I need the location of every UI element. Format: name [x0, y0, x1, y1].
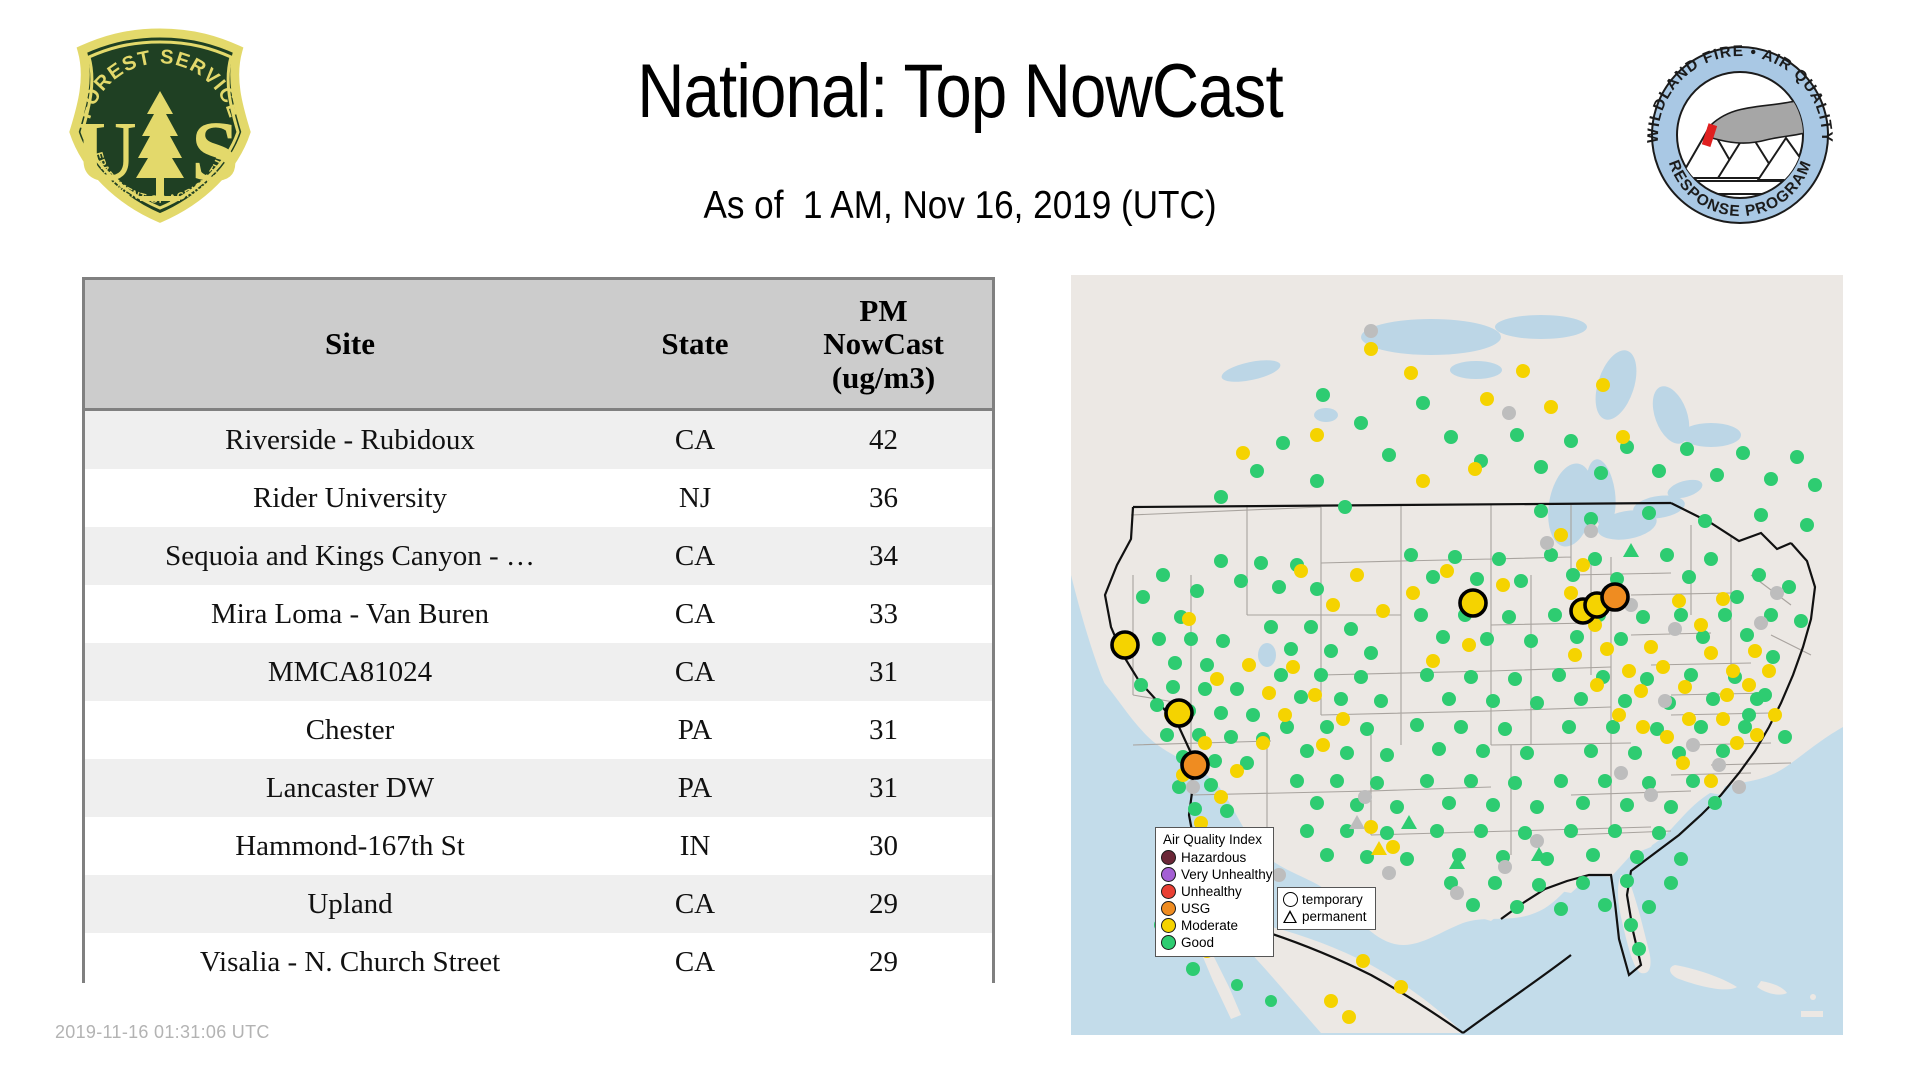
cell-state: CA — [615, 410, 775, 470]
legend-label-usg: USG — [1181, 901, 1210, 916]
map-legend-air-quality-index: Air Quality Index Hazardous Very Unhealt… — [1155, 827, 1274, 957]
cell-value: 31 — [775, 643, 992, 701]
column-header-pm-line3: (ug/m3) — [775, 361, 992, 394]
legend-item-very-unhealthy: Very Unhealthy — [1161, 866, 1268, 883]
cell-value: 30 — [775, 817, 992, 875]
cell-state: PA — [615, 759, 775, 817]
table-row[interactable]: Riverside - RubidouxCA42 — [85, 410, 992, 470]
table-header-row: Site State PM NowCast (ug/m3) — [85, 280, 992, 410]
legend-label-permanent: permanent — [1302, 909, 1367, 924]
table-row[interactable]: Mira Loma - Van BurenCA33 — [85, 585, 992, 643]
legend-swatch-good — [1161, 935, 1176, 950]
legend-title: Air Quality Index — [1163, 832, 1268, 847]
table-row[interactable]: Visalia - N. Church StreetCA29 — [85, 933, 992, 991]
cell-site: Sequoia and Kings Canyon - … — [85, 527, 615, 585]
cell-site: MMCA81024 — [85, 643, 615, 701]
top-nowcast-table: Site State PM NowCast (ug/m3) Riverside … — [85, 280, 992, 991]
page-title: National: Top NowCast — [134, 48, 1785, 135]
table-row[interactable]: ChesterPA31 — [85, 701, 992, 759]
table-row[interactable]: Sequoia and Kings Canyon - …CA34 — [85, 527, 992, 585]
legend-label-moderate: Moderate — [1181, 918, 1238, 933]
cell-site: Hammond-167th St — [85, 817, 615, 875]
legend-swatch-unhealthy — [1161, 884, 1176, 899]
cell-value: 36 — [775, 469, 992, 527]
cell-value: 29 — [775, 875, 992, 933]
cell-state: CA — [615, 643, 775, 701]
cell-state: CA — [615, 933, 775, 991]
highlight-marker-sequoia-kings-canyon — [1112, 632, 1138, 658]
cell-value: 31 — [775, 759, 992, 817]
cell-state: NJ — [615, 469, 775, 527]
legend-swatch-moderate — [1161, 918, 1176, 933]
cell-state: CA — [615, 585, 775, 643]
cell-value: 34 — [775, 527, 992, 585]
cell-site: Riverside - Rubidoux — [85, 410, 615, 470]
cell-value: 42 — [775, 410, 992, 470]
legend-label-hazardous: Hazardous — [1181, 850, 1246, 865]
legend-swatch-usg — [1161, 901, 1176, 916]
column-header-state-label: State — [661, 326, 728, 361]
triangle-icon — [1283, 910, 1298, 923]
air-quality-monitor-map[interactable]: Air Quality Index Hazardous Very Unhealt… — [1071, 275, 1843, 1035]
column-header-pm-line2: NowCast — [775, 327, 992, 360]
cell-value: 29 — [775, 933, 992, 991]
legend-swatch-very-unhealthy — [1161, 867, 1176, 882]
highlight-marker-hammond-167th-st — [1460, 590, 1486, 616]
top-nowcast-table-panel: Site State PM NowCast (ug/m3) Riverside … — [82, 277, 995, 983]
footer-timestamp: 2019-11-16 01:31:06 UTC — [55, 1022, 270, 1043]
column-header-site-label: Site — [325, 326, 375, 361]
highlight-marker-visalia — [1166, 700, 1192, 726]
wfaqrp-seal-logo: WILDLAND FIRE • AIR QUALITY RESPONSE PRO… — [1640, 38, 1840, 228]
legend-label-temporary: temporary — [1302, 892, 1363, 907]
legend-label-very-unhealthy: Very Unhealthy — [1181, 867, 1273, 882]
legend-label-good: Good — [1181, 935, 1214, 950]
column-header-state[interactable]: State — [615, 280, 775, 410]
cell-site: Mira Loma - Van Buren — [85, 585, 615, 643]
column-header-pm-nowcast[interactable]: PM NowCast (ug/m3) — [775, 280, 992, 410]
cell-state: CA — [615, 875, 775, 933]
cell-value: 33 — [775, 585, 992, 643]
cell-value: 31 — [775, 701, 992, 759]
table-row[interactable]: Rider UniversityNJ36 — [85, 469, 992, 527]
legend-item-moderate: Moderate — [1161, 917, 1268, 934]
legend-item-usg: USG — [1161, 900, 1268, 917]
column-header-pm-line1: PM — [775, 294, 992, 327]
map-legend-site-type: temporary permanent — [1277, 887, 1376, 930]
legend-item-good: Good — [1161, 934, 1268, 951]
column-header-site[interactable]: Site — [85, 280, 615, 410]
legend-item-hazardous: Hazardous — [1161, 849, 1268, 866]
legend-label-unhealthy: Unhealthy — [1181, 884, 1242, 899]
cell-site: Visalia - N. Church Street — [85, 933, 615, 991]
circle-icon — [1283, 892, 1298, 907]
cell-site: Chester — [85, 701, 615, 759]
page-header: FOREST SERVICE DEPARTMENT OF AGRICULTURE… — [0, 0, 1920, 270]
cell-state: CA — [615, 527, 775, 585]
legend-item-temporary: temporary — [1283, 891, 1371, 908]
cell-site: Lancaster DW — [85, 759, 615, 817]
highlight-marker-riverside-rubidoux — [1182, 752, 1208, 778]
cell-site: Rider University — [85, 469, 615, 527]
cell-state: PA — [615, 701, 775, 759]
cell-site: Upland — [85, 875, 615, 933]
legend-item-unhealthy: Unhealthy — [1161, 883, 1268, 900]
page-subtitle: As of 1 AM, Nov 16, 2019 (UTC) — [96, 184, 1824, 228]
table-row[interactable]: Hammond-167th StIN30 — [85, 817, 992, 875]
legend-swatch-hazardous — [1161, 850, 1176, 865]
highlight-marker-rider-university — [1602, 584, 1628, 610]
legend-item-permanent: permanent — [1283, 908, 1371, 925]
table-row[interactable]: UplandCA29 — [85, 875, 992, 933]
table-row[interactable]: MMCA81024CA31 — [85, 643, 992, 701]
cell-state: IN — [615, 817, 775, 875]
table-row[interactable]: Lancaster DWPA31 — [85, 759, 992, 817]
